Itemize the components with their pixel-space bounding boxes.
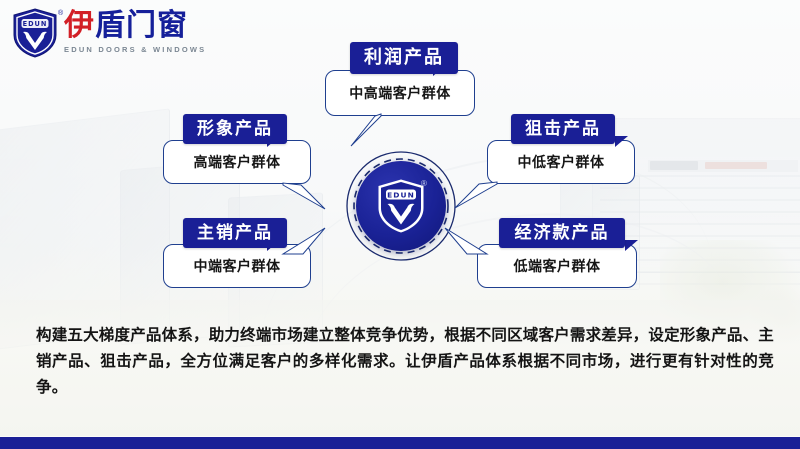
slide-canvas: EDUN 伊盾门窗 EDUN DOORS & WINDOWS ® EDUN (0, 0, 800, 449)
center-registered-icon: ® (421, 179, 427, 188)
callout-sniper-product[interactable]: 中低客户群体 狙击产品 (487, 140, 635, 184)
callout-body-text: 中高端客户群体 (349, 83, 451, 103)
brand-shield-icon: EDUN (12, 8, 58, 58)
bottom-blue-bar (0, 437, 800, 449)
callout-badge-text: 狙击产品 (511, 114, 615, 144)
callout-badge: 利润产品 (350, 42, 458, 74)
description-paragraph: 构建五大梯度产品体系，助力终端市场建立整体竞争优势，根据不同区域客户需求差异，设… (36, 322, 774, 400)
center-shield-icon: EDUN (376, 178, 426, 239)
callout-badge: 形象产品 (183, 114, 287, 144)
brand-name-cn: 伊盾门窗 (64, 11, 206, 41)
callout-body-text: 中低客户群体 (518, 152, 605, 172)
brand-wordmark: 伊盾门窗 EDUN DOORS & WINDOWS (64, 8, 206, 54)
callout-tail-right-top (453, 182, 499, 212)
brand-name-first-char: 伊 (64, 8, 95, 43)
callout-body-text: 低端客户群体 (514, 256, 601, 276)
callout-tail-left-top (281, 183, 329, 213)
svg-text:EDUN: EDUN (387, 190, 415, 199)
callout-badge-text: 利润产品 (350, 42, 458, 74)
callout-badge-text: 形象产品 (183, 114, 287, 144)
callout-main-sales-product[interactable]: 中端客户群体 主销产品 (163, 244, 311, 288)
callout-image-product[interactable]: 高端客户群体 形象产品 (163, 140, 311, 184)
callout-badge-text: 经济款产品 (499, 218, 625, 248)
callout-badge: 狙击产品 (511, 114, 615, 144)
brand-registered-icon: ® (58, 10, 63, 17)
callout-bubble: 高端客户群体 (163, 140, 311, 184)
callout-bubble: 中高端客户群体 (325, 70, 475, 116)
callout-badge-text: 主销产品 (183, 218, 287, 248)
callout-badge-tail-icon (625, 240, 638, 251)
callout-tail-top (347, 114, 393, 148)
callout-tail-right-bottom (443, 226, 489, 258)
callout-bubble: 低端客户群体 (477, 244, 637, 288)
brand-name-rest: 盾门窗 (95, 8, 188, 43)
callout-body-text: 高端客户群体 (194, 152, 281, 172)
callout-economy-product[interactable]: 低端客户群体 经济款产品 (477, 244, 637, 288)
callout-badge: 主销产品 (183, 218, 287, 248)
callout-bubble: 中低客户群体 (487, 140, 635, 184)
callout-badge-tail-icon (615, 136, 628, 147)
brand-logo: EDUN 伊盾门窗 EDUN DOORS & WINDOWS ® (12, 8, 206, 58)
callout-profit-product[interactable]: 中高端客户群体 利润产品 (325, 70, 475, 116)
callout-tail-left-bottom (281, 226, 329, 258)
callout-badge: 经济款产品 (499, 218, 625, 248)
svg-text:EDUN: EDUN (23, 20, 48, 28)
center-emblem: EDUN ® (345, 150, 457, 262)
brand-name-en: EDUN DOORS & WINDOWS (64, 45, 206, 54)
callout-body-text: 中端客户群体 (194, 256, 281, 276)
